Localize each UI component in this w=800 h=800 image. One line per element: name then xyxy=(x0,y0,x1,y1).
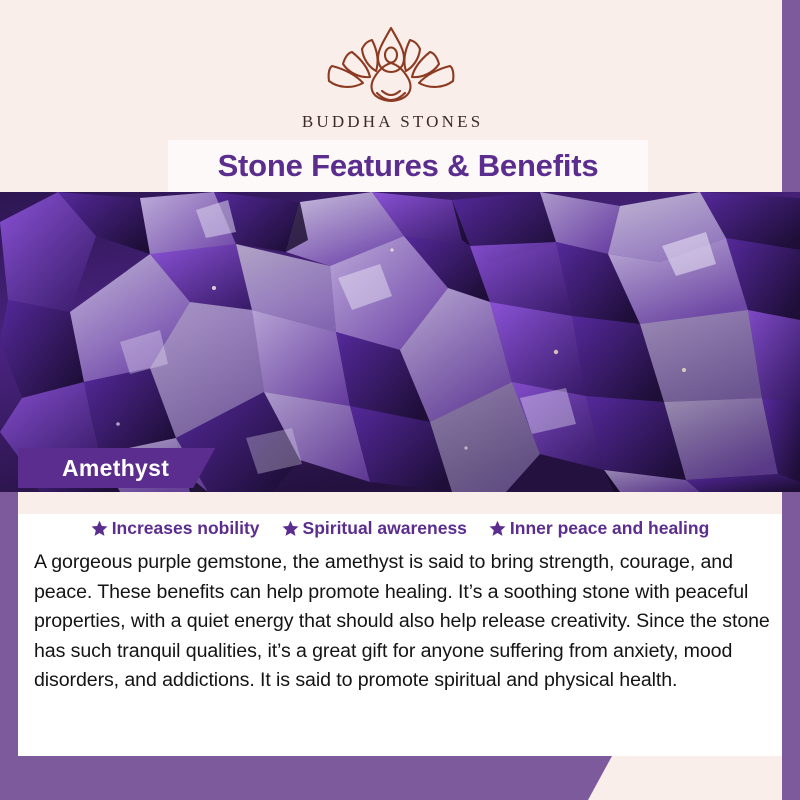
frame-bottom-bar xyxy=(0,756,612,800)
benefit-label: Spiritual awareness xyxy=(303,518,467,539)
benefit-label: Increases nobility xyxy=(112,518,260,539)
benefit-item: Inner peace and healing xyxy=(489,518,709,539)
benefit-label: Inner peace and healing xyxy=(510,518,709,539)
benefit-item: Spiritual awareness xyxy=(282,518,467,539)
page-title: Stone Features & Benefits xyxy=(218,148,599,184)
star-icon xyxy=(489,520,506,537)
stone-name-banner: Amethyst xyxy=(18,448,215,488)
benefits-list: Increases nobility Spiritual awareness I… xyxy=(18,518,782,539)
stone-features-infographic: BUDDHA STONES Stone Features & Benefits xyxy=(0,0,800,800)
amethyst-crystal-photo xyxy=(0,192,800,492)
brand-wordmark: BUDDHA STONES xyxy=(299,112,484,132)
content-panel: Increases nobility Spiritual awareness I… xyxy=(18,492,782,756)
stone-description: A gorgeous purple gemstone, the amethyst… xyxy=(34,548,774,696)
benefit-item: Increases nobility xyxy=(91,518,260,539)
content-top-tint xyxy=(18,492,782,514)
lotus-meditation-figure-icon xyxy=(316,22,466,108)
frame-left-bar xyxy=(0,482,18,800)
brand-logo: BUDDHA STONES xyxy=(0,22,782,132)
star-icon xyxy=(282,520,299,537)
star-icon xyxy=(91,520,108,537)
stone-name-text: Amethyst xyxy=(62,455,169,482)
title-banner: Stone Features & Benefits xyxy=(168,140,648,192)
